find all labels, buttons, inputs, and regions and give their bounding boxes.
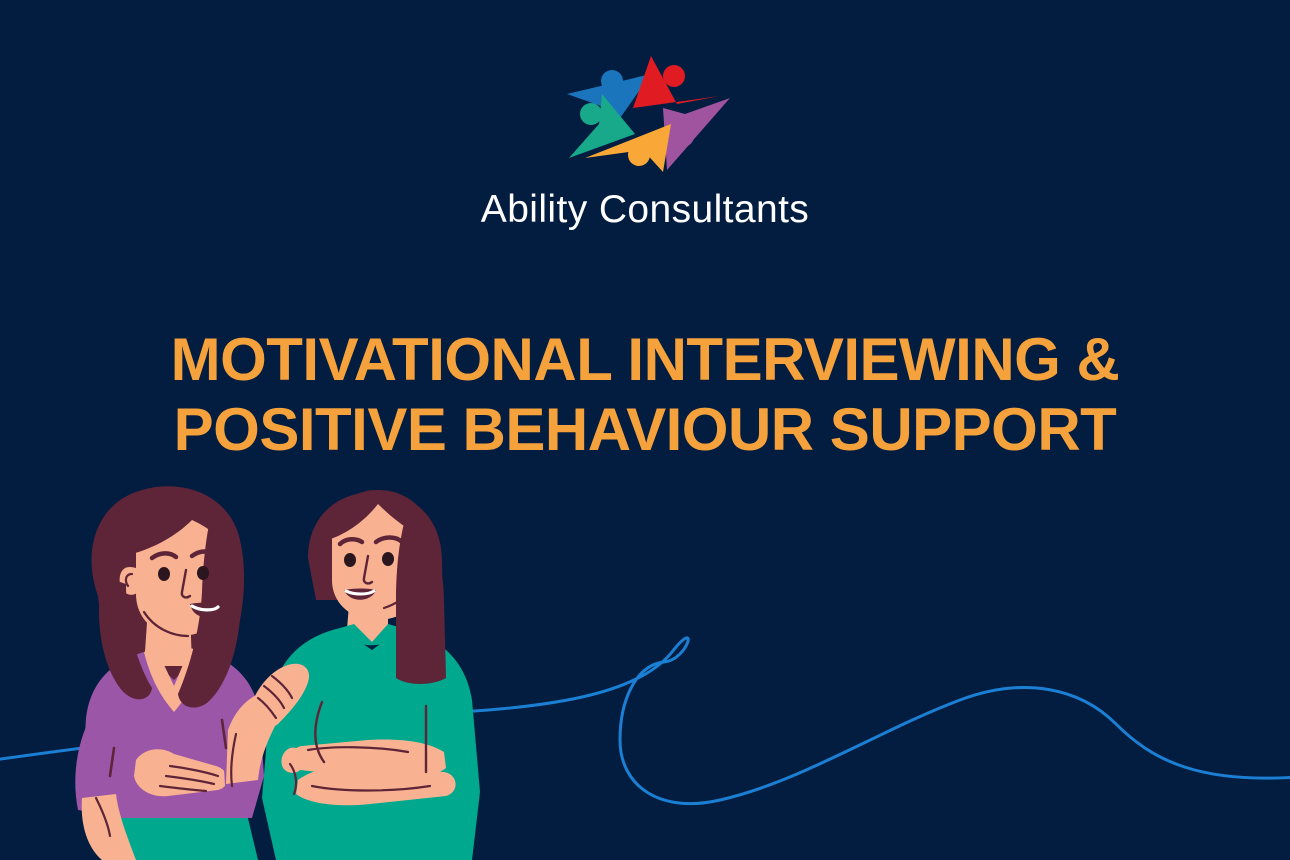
page-title: MOTIVATIONAL INTERVIEWING & POSITIVE BEH… [0, 325, 1290, 465]
five-people-star-logo-icon [555, 52, 735, 174]
brand-logo-block: Ability Consultants [0, 52, 1290, 229]
two-women-in-conversation-illustration [40, 480, 570, 860]
logo-person-red [633, 56, 720, 108]
page-title-line-1: MOTIVATIONAL INTERVIEWING & [28, 325, 1262, 395]
brand-wordmark: Ability Consultants [481, 190, 809, 229]
page-title-line-2: POSITIVE BEHAVIOUR SUPPORT [28, 395, 1262, 465]
logo-person-purple [663, 98, 730, 170]
slide-canvas: Ability Consultants MOTIVATIONAL INTERVI… [0, 0, 1290, 860]
